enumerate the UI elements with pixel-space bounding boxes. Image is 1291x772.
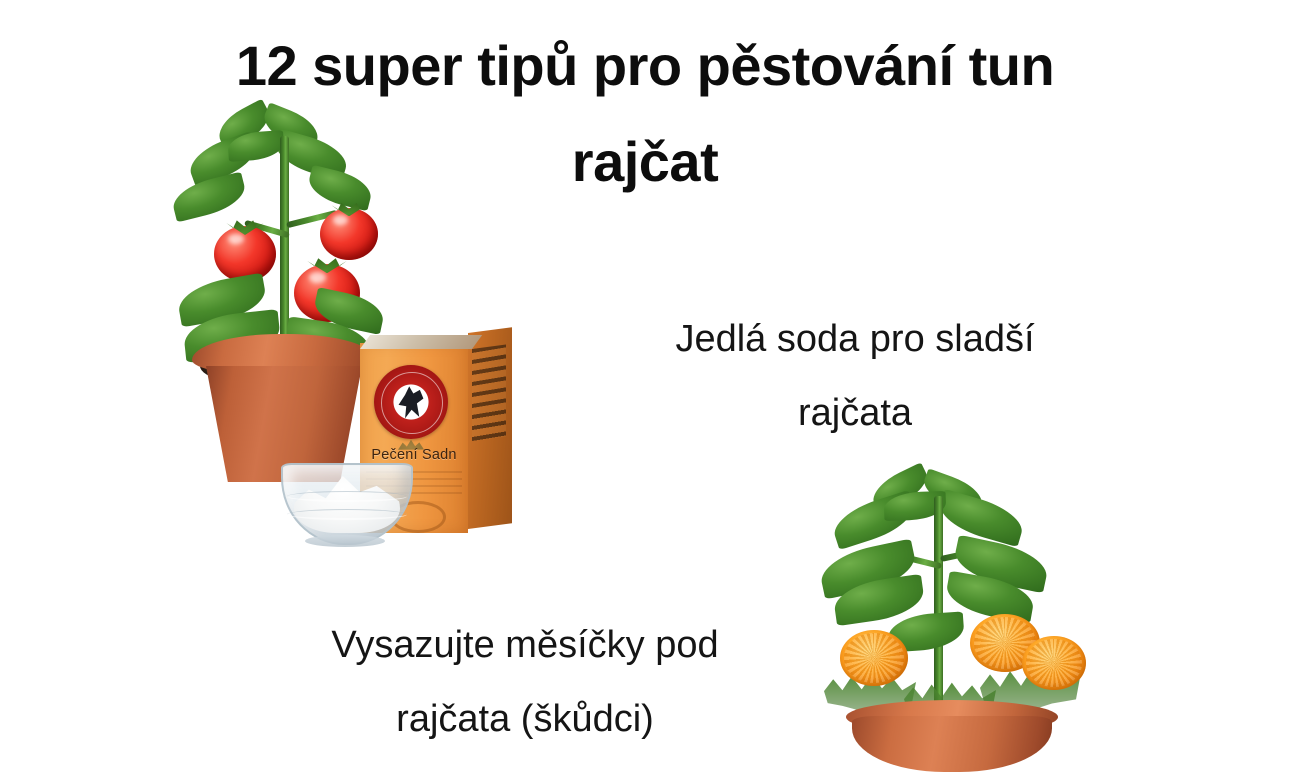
marigold-flower bbox=[1022, 636, 1086, 690]
tomato-leaf bbox=[305, 165, 375, 212]
marigold-flower bbox=[840, 630, 908, 686]
marigold-and-tomato-planter-image bbox=[818, 474, 1090, 772]
tomato-fruit bbox=[214, 226, 276, 282]
bowl-foot bbox=[305, 535, 385, 547]
tip-caption-marigolds: Vysazujte měsíčky pod rajčata (škůdci) bbox=[222, 608, 828, 756]
box-top-flap bbox=[360, 335, 482, 349]
tomato-fruit bbox=[320, 208, 378, 260]
tip-caption-baking-soda: Jedlá soda pro sladší rajčata bbox=[595, 302, 1115, 450]
tomato-calyx bbox=[307, 258, 347, 273]
glass-bowl bbox=[281, 463, 413, 545]
bowl-ring bbox=[287, 509, 407, 520]
bowl-ring bbox=[287, 491, 407, 502]
pot-body bbox=[852, 716, 1052, 772]
brand-seal-icon bbox=[374, 365, 448, 439]
infographic-canvas: 12 super tipů pro pěstování tun rajčat bbox=[0, 0, 1291, 772]
baking-soda-powder bbox=[294, 471, 400, 533]
arm-and-hammer-emblem-icon bbox=[396, 384, 426, 420]
tomato-leaf bbox=[169, 172, 249, 223]
box-side-stripes bbox=[472, 345, 506, 441]
glass-bowl-of-baking-soda-image bbox=[281, 449, 409, 547]
